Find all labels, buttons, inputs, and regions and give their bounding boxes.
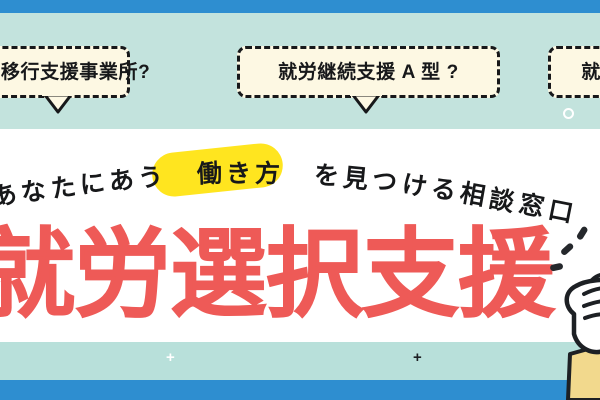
speech-bubble-label: 就 xyxy=(581,63,600,82)
raised-hand-illustration xyxy=(548,222,600,400)
speech-bubble-tail-1 xyxy=(44,94,78,114)
top-blue-bar xyxy=(0,0,600,13)
subtitle-char: き xyxy=(226,161,251,186)
subtitle-char: 働 xyxy=(196,162,222,188)
speech-bubble-third-partial: 就 xyxy=(548,46,600,98)
subtitle-arc: あなたにあう 働き方 を見つける相談窓口 xyxy=(0,132,600,224)
subtitle-char: な xyxy=(20,178,48,206)
bottom-blue-bar xyxy=(0,380,600,400)
subtitle-char: る xyxy=(429,176,458,205)
motion-dash-icon xyxy=(550,225,589,271)
speech-bubble-shuro-keizoku-a: 就労継続支援 A 型 ? xyxy=(237,46,500,98)
subtitle-char: 方 xyxy=(255,161,280,186)
subtitle-char: を xyxy=(313,163,340,190)
mint-bottom-band xyxy=(0,342,600,380)
promo-banner: 就労移行支援事業所? 就労継続支援 A 型 ? 就 あなたにあう 働き方 を見つ… xyxy=(0,0,600,400)
page-title: 就労選択支援 xyxy=(0,218,578,330)
speech-bubble-label: 就労継続支援 A 型 ? xyxy=(278,63,459,82)
subtitle-char: た xyxy=(49,174,77,202)
plus-decoration-dark: + xyxy=(413,350,422,365)
subtitle-char: 相 xyxy=(458,181,487,210)
speech-bubble-tail-2 xyxy=(352,94,386,114)
speech-bubble-label: 就労移行支援事業所? xyxy=(0,63,150,82)
subtitle-char: つ xyxy=(371,168,399,196)
subtitle-char xyxy=(284,162,310,188)
subtitle-char: け xyxy=(400,172,428,200)
subtitle-char: 見 xyxy=(342,165,369,192)
subtitle-char: あ xyxy=(0,182,19,210)
subtitle-char: 窓 xyxy=(517,192,546,221)
plus-decoration-white: + xyxy=(166,350,175,365)
page-title-text: 就労選択支援 xyxy=(0,226,554,323)
subtitle-char: う xyxy=(137,165,164,192)
subtitle-char: あ xyxy=(108,168,135,195)
subtitle-char: に xyxy=(78,171,106,199)
subtitle-char xyxy=(167,163,194,190)
speech-bubble-shuro-ikou: 就労移行支援事業所? xyxy=(0,46,130,98)
circle-outline-icon xyxy=(563,108,574,119)
subtitle-char: 談 xyxy=(487,186,516,215)
